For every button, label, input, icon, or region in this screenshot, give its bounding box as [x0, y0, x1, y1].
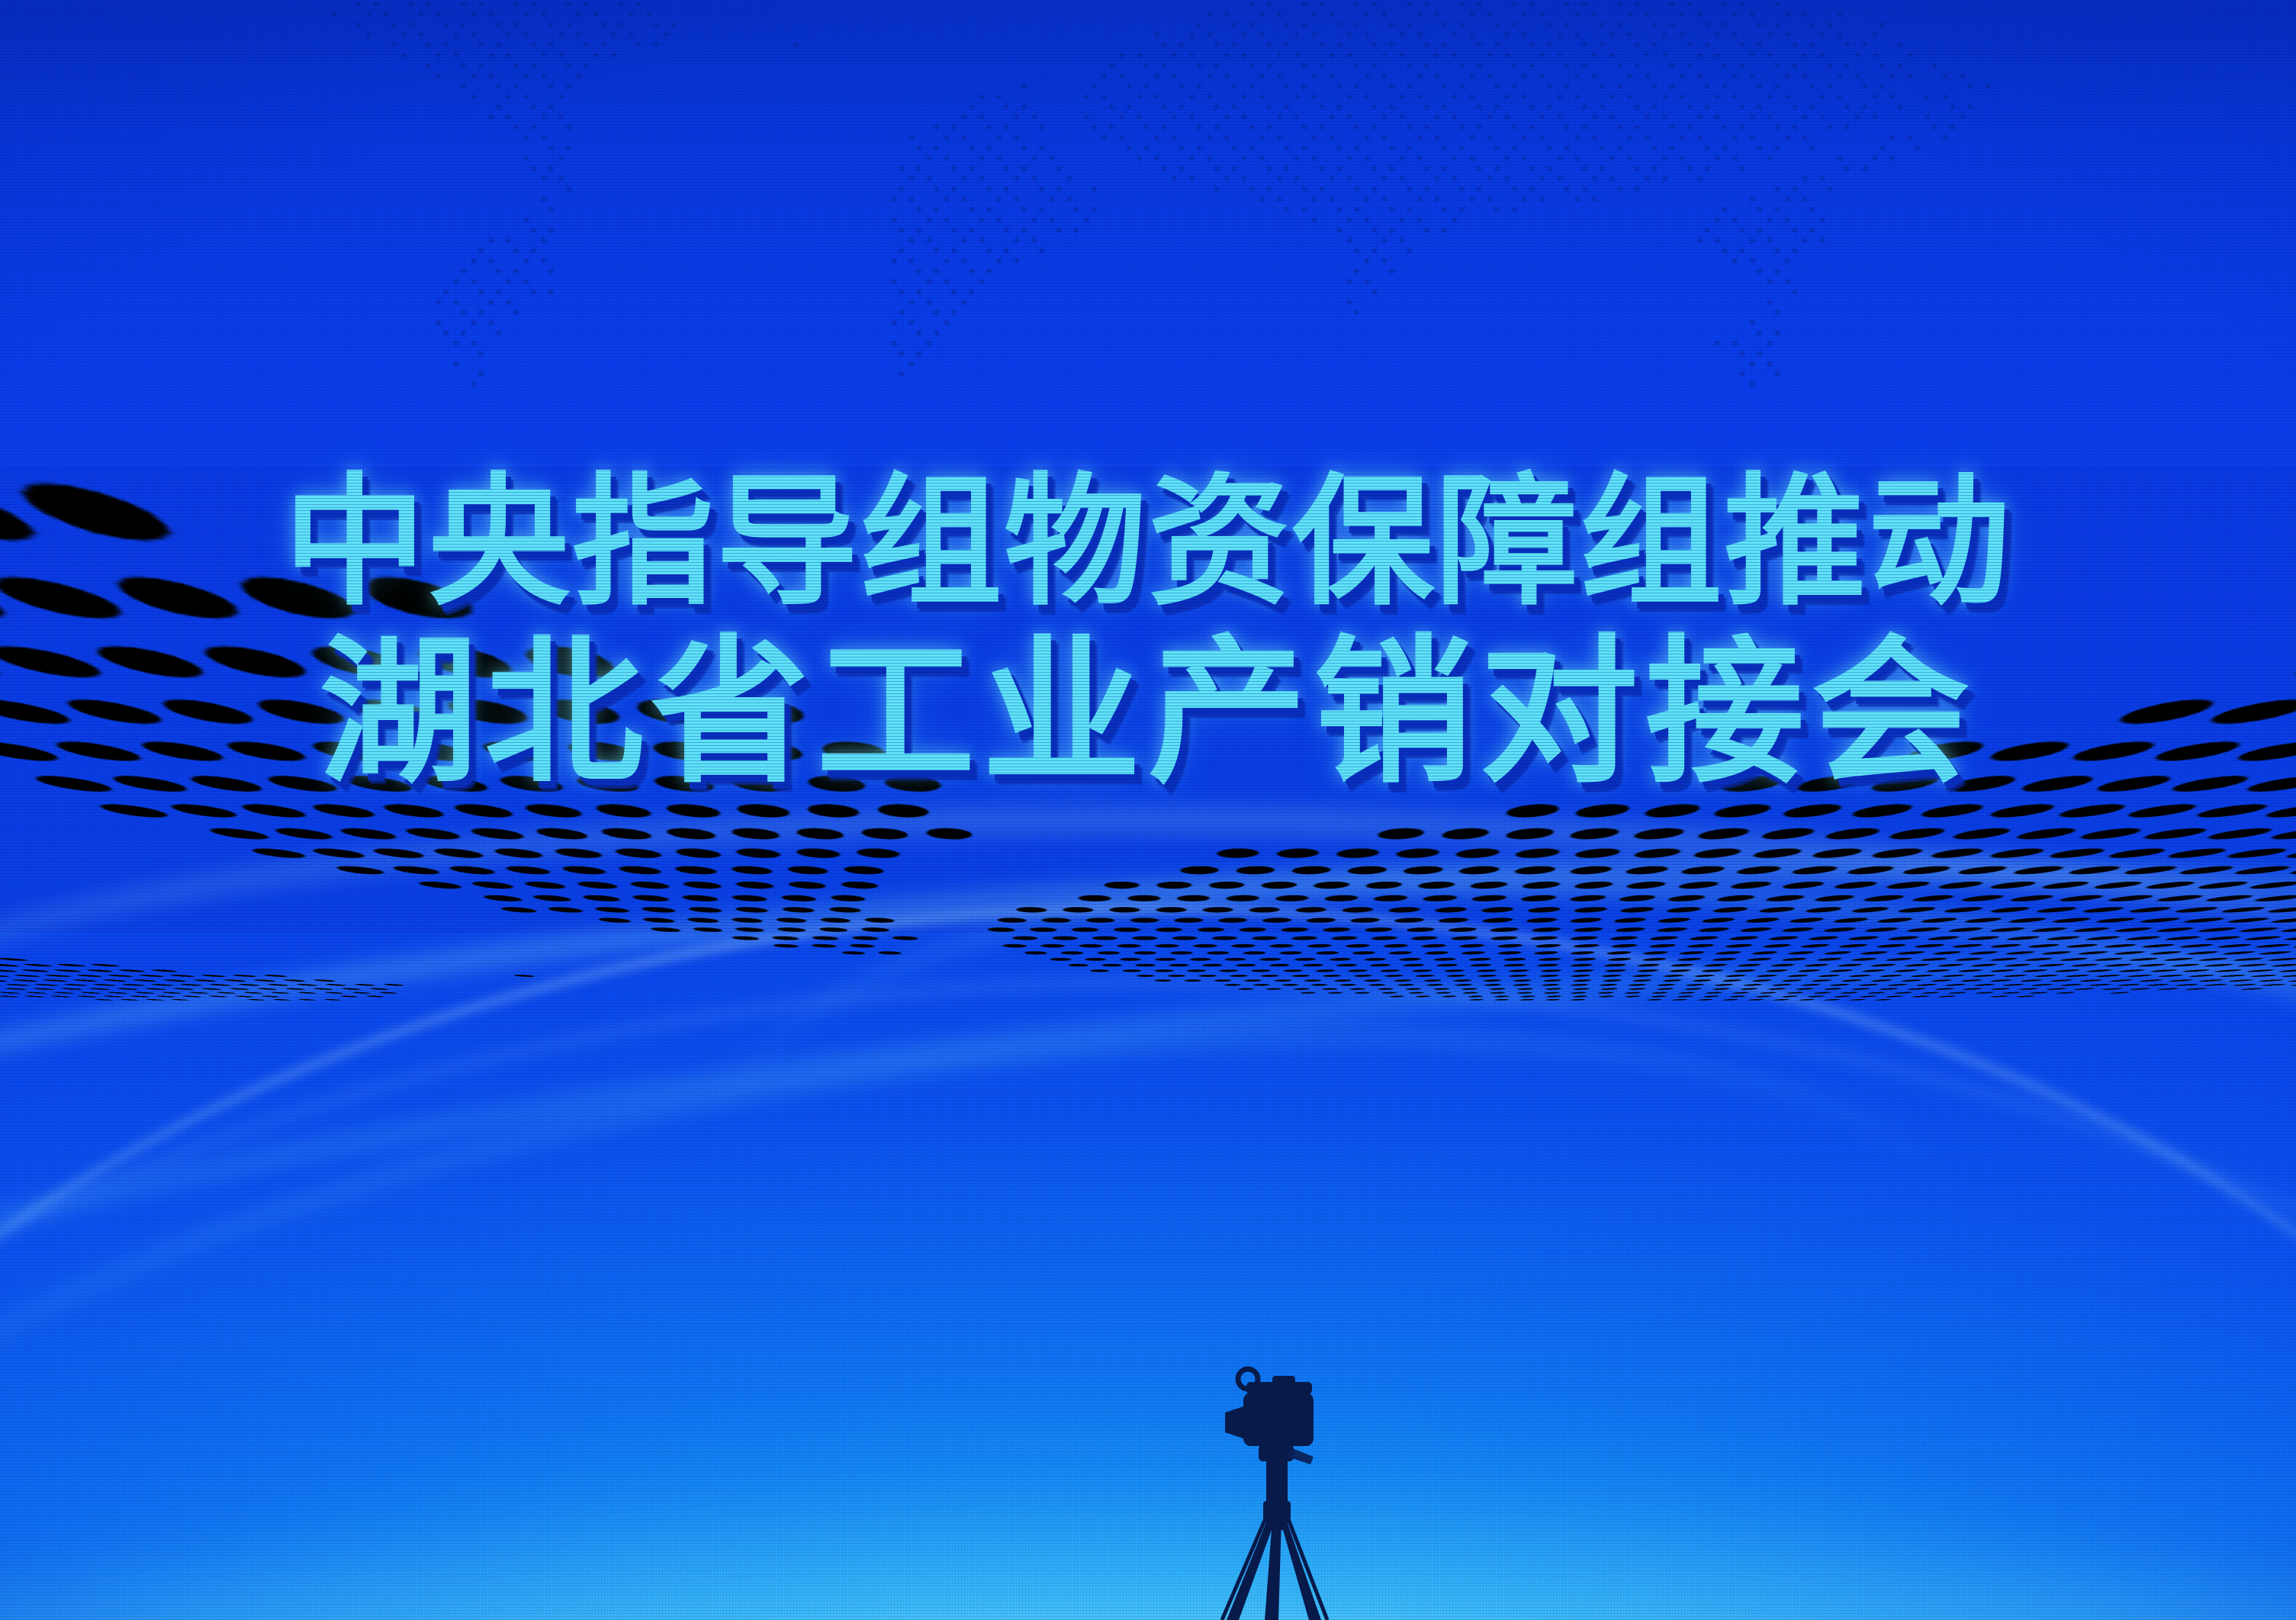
video-camera-icon — [1199, 1362, 1352, 1620]
upper-dotmap-echo — [271, 0, 2025, 441]
stage-title: 中央指导组物资保障组推动 湖北省工业产销对接会 — [0, 467, 2296, 798]
title-line-1: 中央指导组物资保障组推动 — [0, 467, 2296, 617]
led-backdrop-scene: 中央指导组物资保障组推动 湖北省工业产销对接会 — [0, 0, 2296, 1620]
title-line-2: 湖北省工业产销对接会 — [0, 629, 2296, 797]
